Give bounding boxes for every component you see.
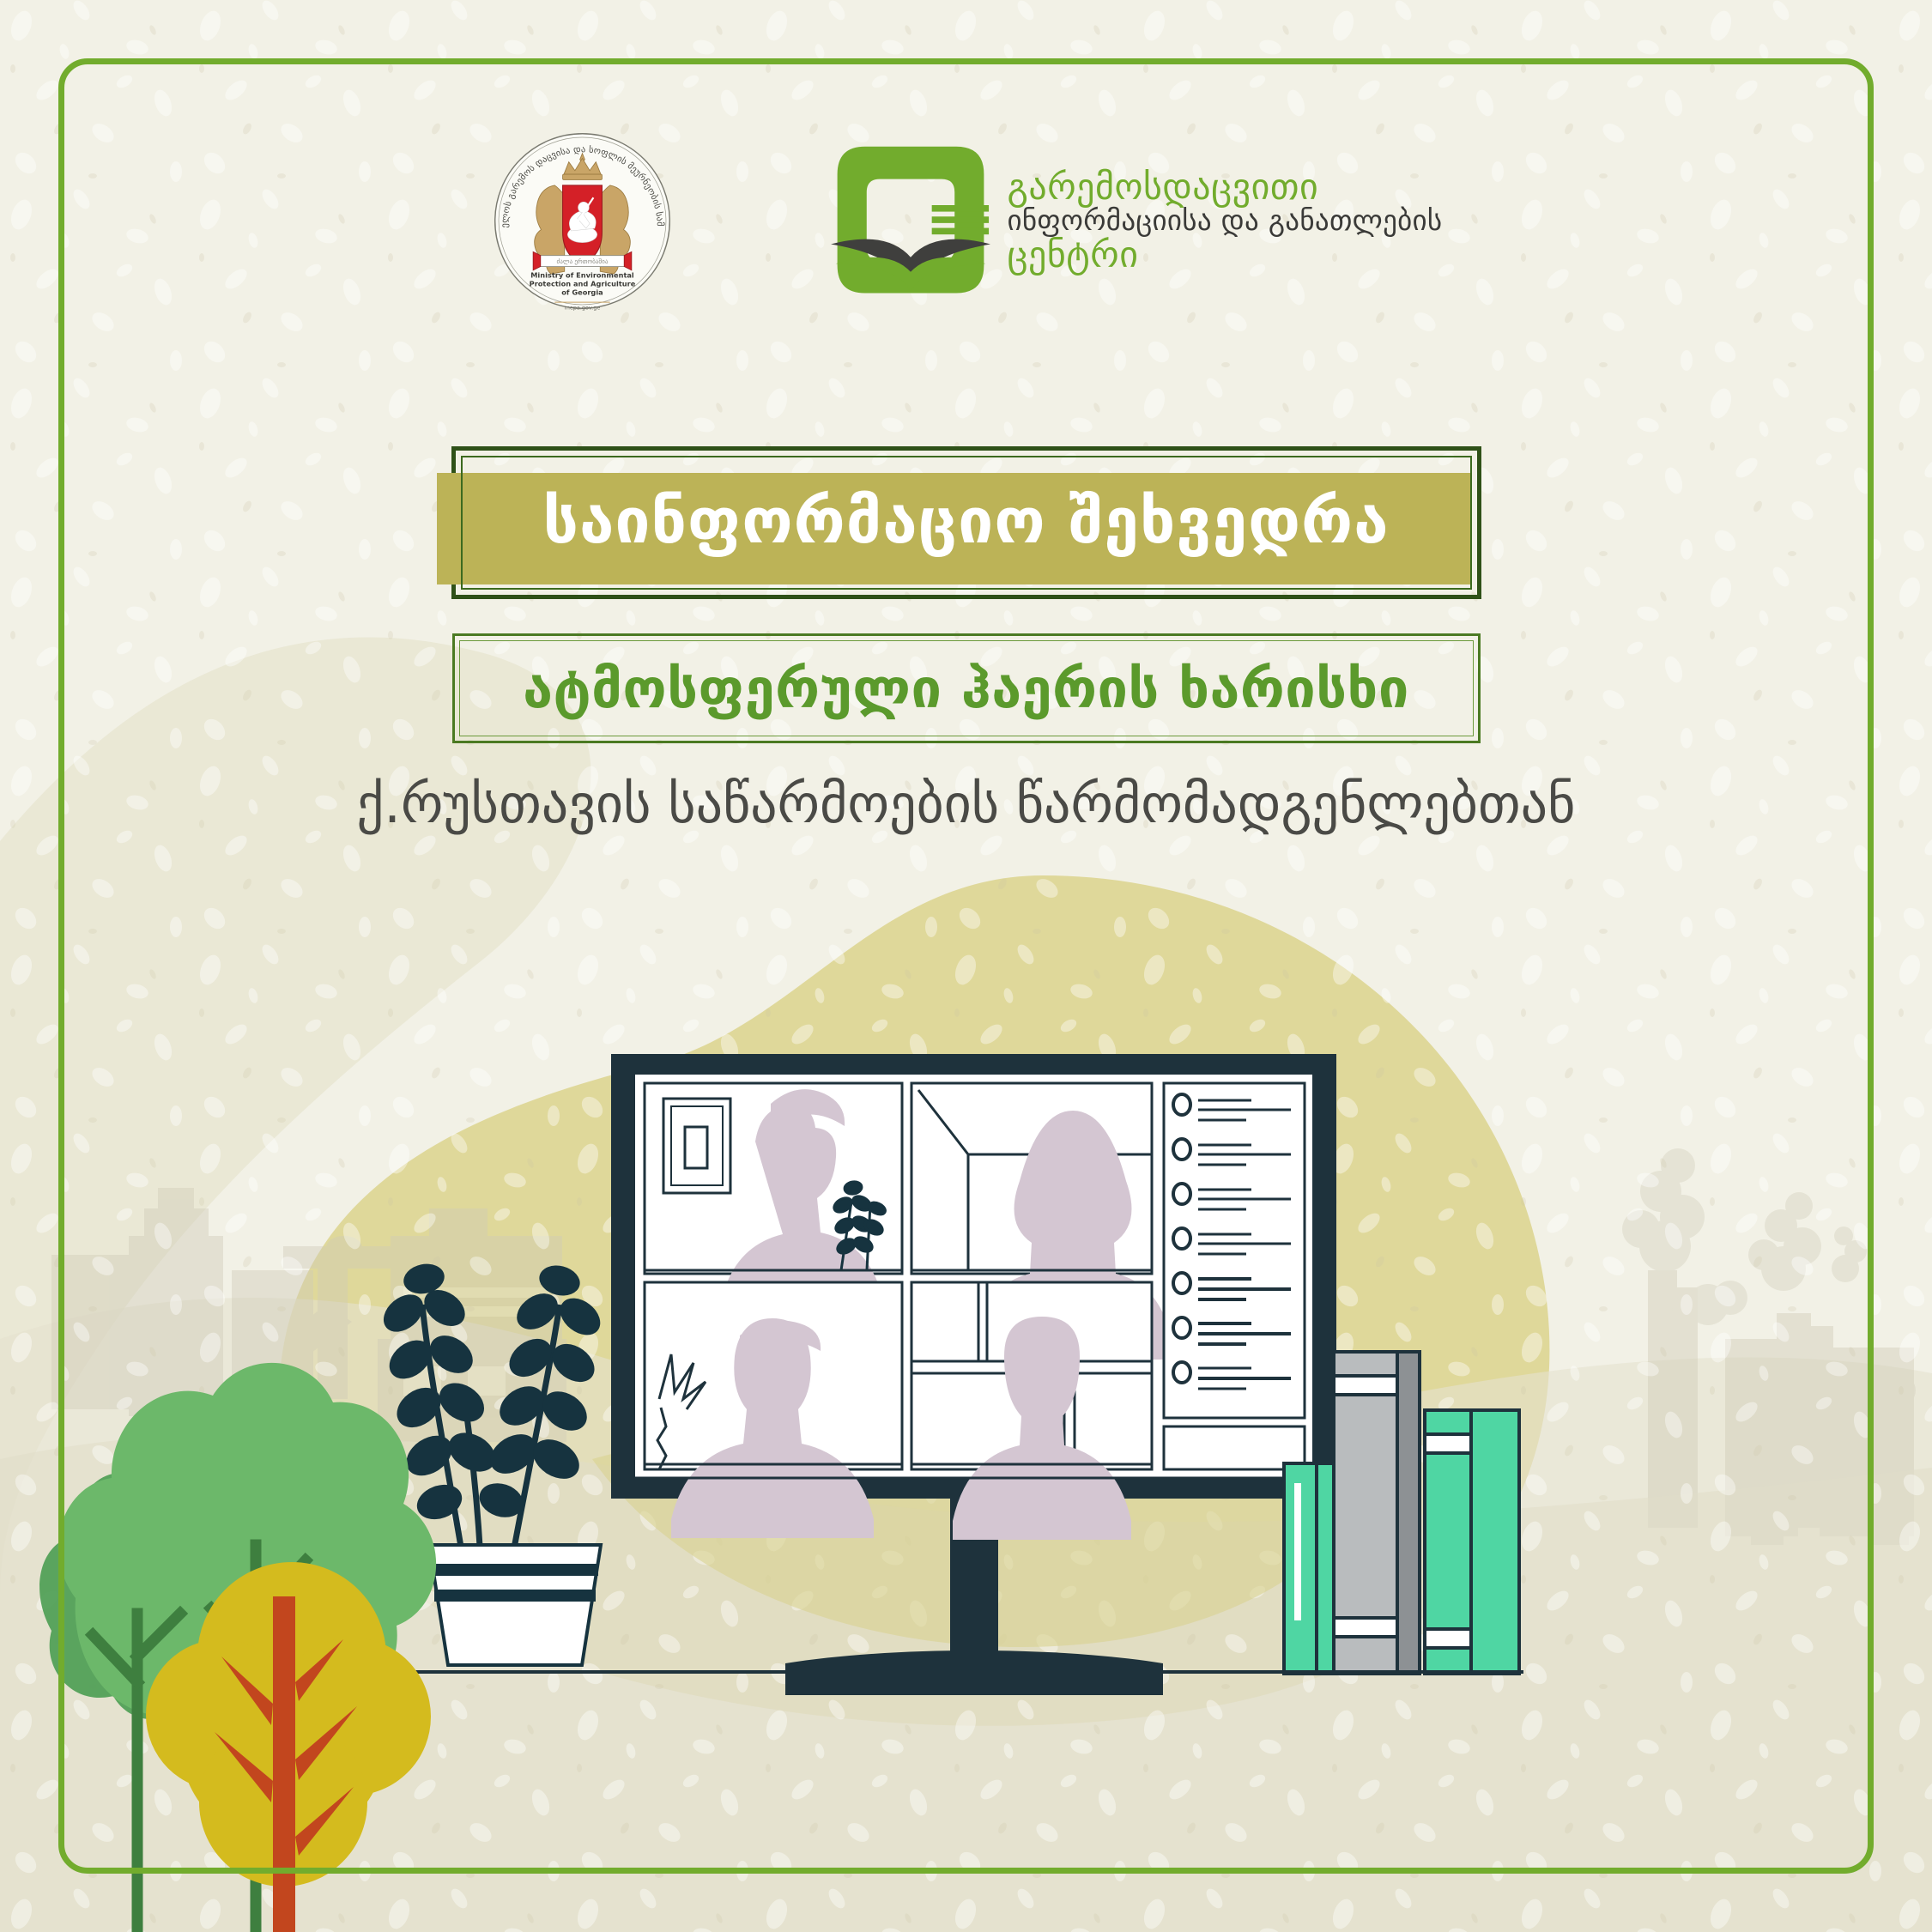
emblem-english-line-3: of Georgia [561, 288, 603, 297]
participant-sidebar [1164, 1083, 1305, 1469]
ministry-emblem-icon: საქართველოს გარემოს დაცვისა და სოფლის მე… [490, 129, 675, 313]
secondary-banner-frame: ატმოსფერული ჰაერის ხარისხი [452, 633, 1481, 743]
emblem-ribbon-text: ძალა ერთობაშია [556, 257, 608, 265]
center-logo-line-1: გარემოსდაცვითი [1008, 168, 1443, 207]
subtitle-text: ქ.რუსთავის საწარმოების წარმომადგენლებთან [0, 772, 1932, 835]
center-logo-mark-icon [829, 142, 992, 300]
emblem-website: mepa.gov.ge [564, 305, 600, 312]
primary-banner-frame: საინფორმაციო შეხვედრა [451, 446, 1481, 599]
poster-root: საქართველოს გარემოს დაცვისა და სოფლის მე… [0, 0, 1932, 1932]
center-logo-line-2: ინფორმაციისა და განათლების [1008, 206, 1443, 236]
emblem-english-line-2: Protection and Agriculture [529, 279, 635, 288]
emblem-english-line-1: Ministry of Environmental [530, 270, 634, 279]
center-logo: გარემოსდაცვითი ინფორმაციისა და განათლები… [829, 142, 1443, 300]
center-logo-line-3: ცენტრი [1008, 236, 1443, 275]
participant-tile-3 [645, 1282, 902, 1538]
secondary-banner-inner-line: ატმოსფერული ჰაერის ხარისხი [459, 640, 1474, 736]
secondary-banner-wrap: ატმოსფერული ჰაერის ხარისხი [0, 633, 1932, 743]
header-logos: საქართველოს გარემოს დაცვისა და სოფლის მე… [0, 129, 1932, 313]
secondary-banner-title: ატმოსფერული ჰაერის ხარისხი [460, 641, 1473, 736]
primary-banner-inner-line: საინფორმაციო შეხვედრა [461, 456, 1472, 590]
primary-banner-wrap: საინფორმაციო შეხვედრა [0, 446, 1932, 599]
primary-banner-title: საინფორმაციო შეხვედრა [463, 456, 1470, 586]
